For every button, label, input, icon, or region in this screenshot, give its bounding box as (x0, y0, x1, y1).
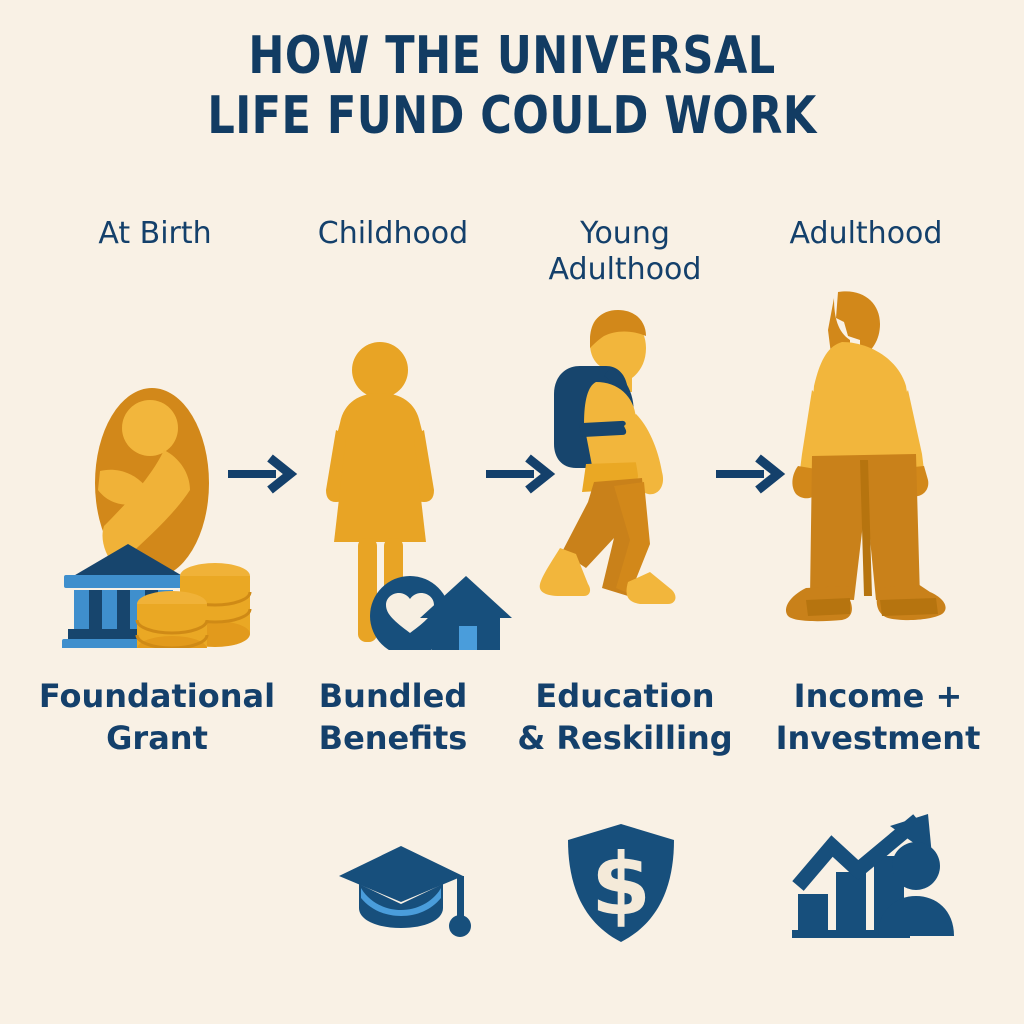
infographic-canvas: HOW THE UNIVERSAL LIFE FUND COULD WORK A… (0, 0, 1024, 1024)
adulthood-illustration (776, 278, 966, 648)
caption-foundational-grant: Foundational Grant (33, 675, 281, 759)
growth-chart-person-icon (786, 812, 964, 949)
stage-artwork-at-birth (60, 378, 290, 653)
stage-label-childhood: Childhood (273, 216, 513, 252)
at-birth-illustration (60, 378, 290, 648)
student-backpack-icon (540, 310, 676, 604)
stage-artwork-young-adulthood (532, 296, 712, 651)
shield-dollar-icon: $ (556, 818, 686, 953)
caption-income-investment: Income + Investment (749, 675, 1007, 759)
dollar-glyph: $ (591, 835, 651, 935)
graduation-cap-icon (333, 832, 497, 947)
caption-bundled-benefits: Bundled Benefits (281, 675, 505, 759)
stage-label-at-birth: At Birth (35, 216, 275, 252)
stage-label-adulthood: Adulthood (746, 216, 986, 252)
page-title: HOW THE UNIVERSAL LIFE FUND COULD WORK (41, 26, 983, 146)
caption-education-reskilling: Education & Reskilling (505, 675, 745, 759)
title-line-1: HOW THE UNIVERSAL (41, 26, 983, 86)
stage-artwork-adulthood (776, 278, 966, 653)
arrow-birth-to-childhood (228, 452, 298, 503)
title-line-2: LIFE FUND COULD WORK (41, 86, 983, 146)
adult-figure-icon (786, 291, 946, 621)
swaddled-baby-icon (95, 388, 209, 578)
stage-label-young-adulthood: Young Adulthood (505, 216, 745, 288)
young-adulthood-illustration (532, 296, 712, 646)
